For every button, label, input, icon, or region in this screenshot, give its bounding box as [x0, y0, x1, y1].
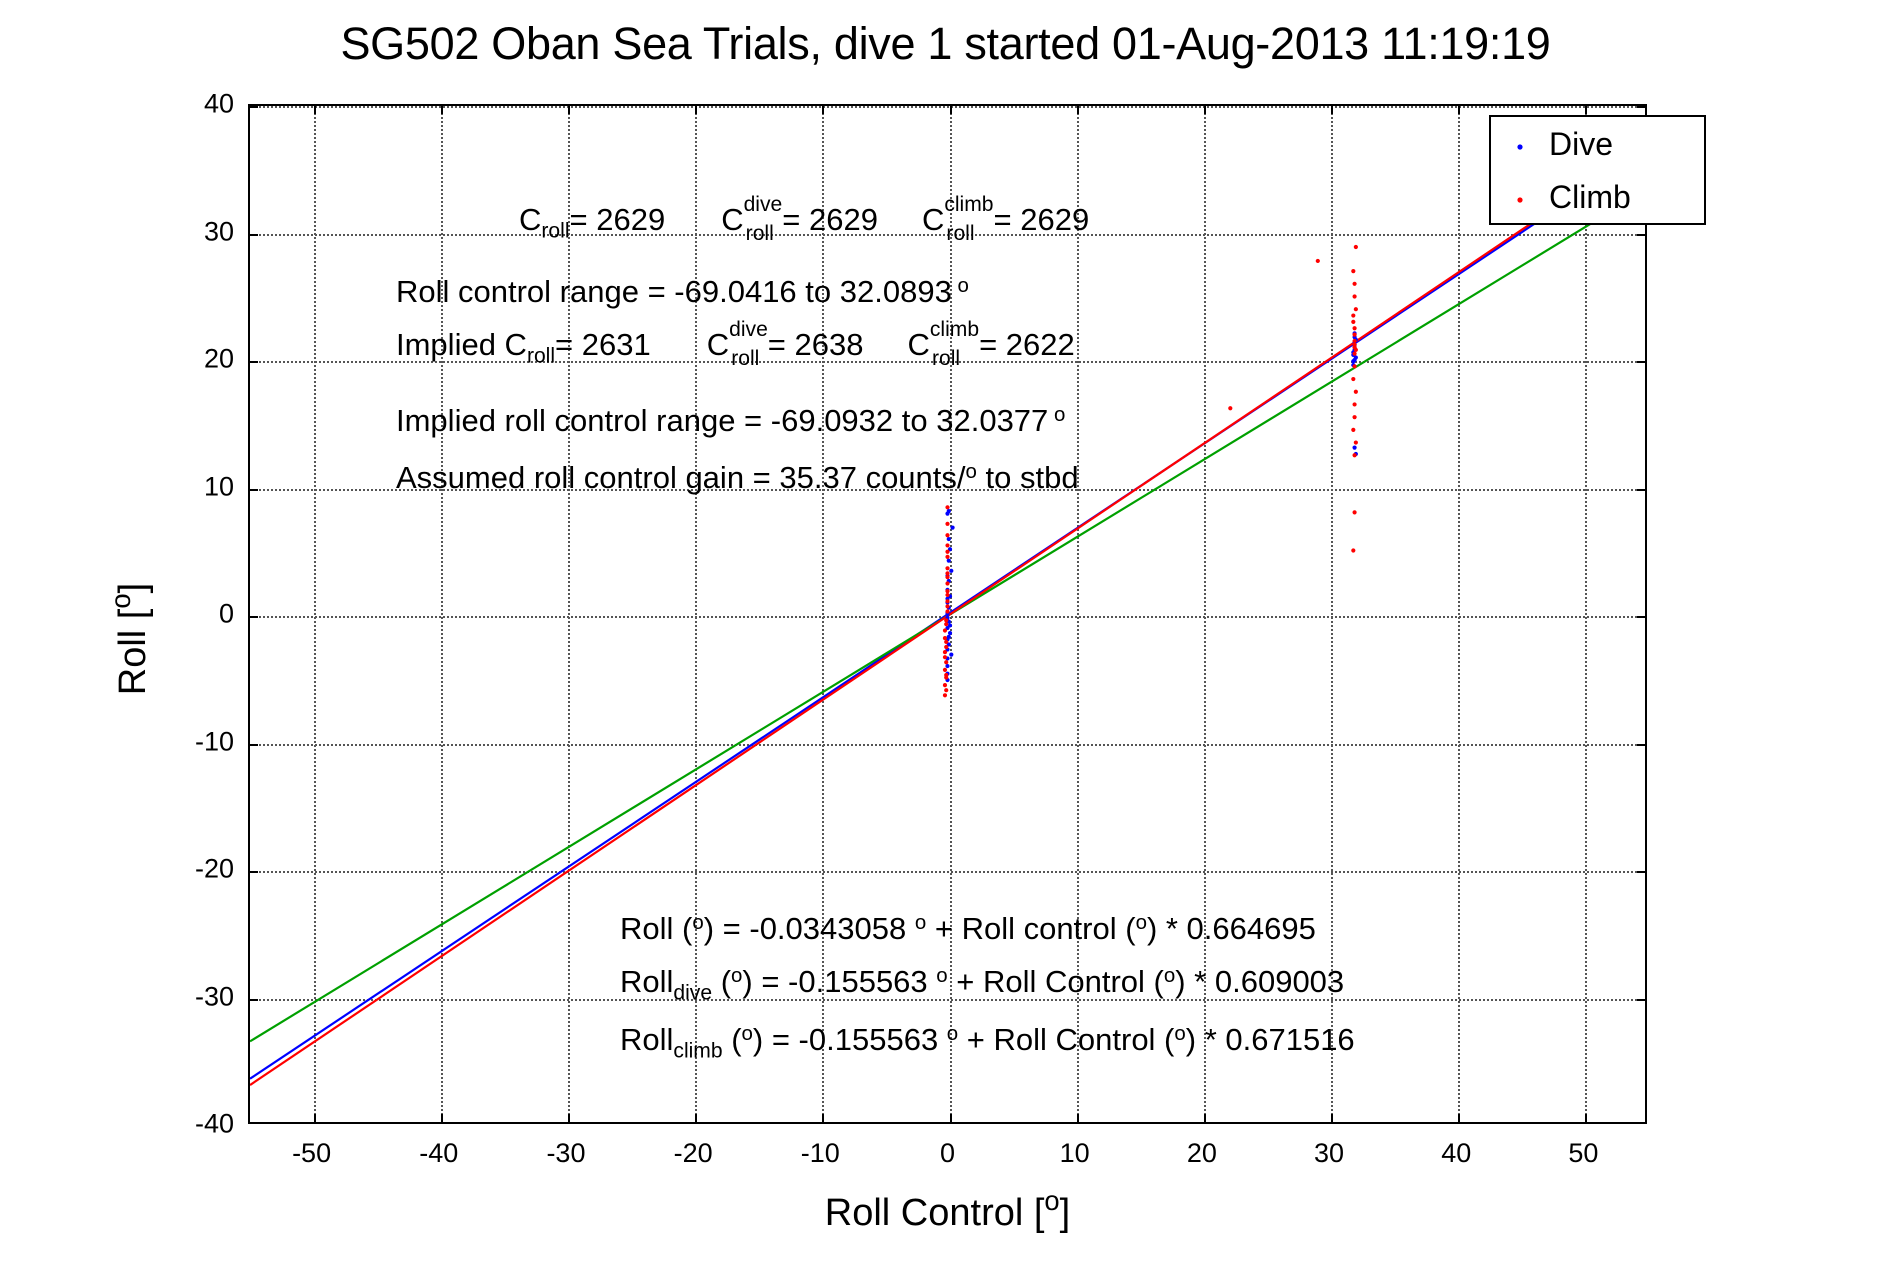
data-point: [1352, 415, 1356, 419]
y-axis-tick: [248, 999, 258, 1001]
x-axis-tick: [568, 104, 570, 114]
eq3-part-b: (: [723, 1022, 742, 1057]
x-axis-tick: [1204, 104, 1206, 114]
x-axis-tick: [568, 1114, 570, 1124]
degree-icon: o: [1174, 1022, 1185, 1045]
data-point: [944, 660, 948, 664]
croll-climb-superscript: climb: [944, 195, 993, 215]
data-point: [947, 635, 951, 639]
eq1-part-d: ) * 0.664695: [1147, 911, 1316, 946]
data-point: [1351, 548, 1355, 552]
data-point: [1351, 359, 1355, 363]
data-point: [947, 537, 951, 541]
y-axis-tick: [1637, 361, 1647, 363]
degree-icon: o: [731, 964, 742, 987]
x-axis-tick: [441, 104, 443, 114]
y-tick-label: 20: [140, 344, 234, 375]
legend-item-climb[interactable]: Climb: [1491, 170, 1704, 225]
data-point: [945, 664, 949, 668]
data-point: [945, 555, 949, 559]
data-point: [1352, 453, 1356, 457]
implied-roll-control-range-text: Implied roll control range = -69.0932 to…: [396, 403, 1048, 438]
y-axis-label-text: Roll [: [112, 609, 154, 696]
croll-value: = 2629: [570, 202, 666, 237]
legend[interactable]: Dive Climb: [1489, 115, 1706, 225]
data-point: [945, 543, 949, 547]
y-axis-tick: [248, 361, 258, 363]
y-axis-tick: [1637, 106, 1647, 108]
eq3-part-a: Roll: [620, 1022, 673, 1057]
degree-icon: o: [966, 460, 977, 483]
equation-roll-all: Roll (o) = -0.0343058 o + Roll control (…: [620, 913, 1316, 944]
x-axis-tick: [822, 104, 824, 114]
degree-icon: o: [1136, 911, 1147, 934]
y-tick-label: 30: [140, 216, 234, 247]
eq2-part-a: Roll: [620, 964, 673, 999]
y-axis-tick: [248, 234, 258, 236]
data-point: [1352, 294, 1356, 298]
data-point: [945, 505, 949, 509]
degree-icon: o: [692, 911, 703, 934]
legend-label-climb: Climb: [1549, 179, 1631, 216]
data-point: [943, 636, 947, 640]
data-point: [945, 593, 949, 597]
croll-dive-value: = 2629: [782, 202, 878, 237]
data-point: [950, 526, 954, 530]
degree-icon: o: [952, 274, 969, 297]
eq1-part-a: Roll (: [620, 911, 692, 946]
x-axis-tick: [1077, 1114, 1079, 1124]
data-point: [947, 509, 951, 513]
x-axis-label-text: Roll Control [: [825, 1192, 1045, 1234]
data-point: [1351, 320, 1355, 324]
x-tick-label: 30: [1314, 1138, 1344, 1169]
eq2-part-e: ) * 0.609003: [1175, 964, 1344, 999]
data-point: [1354, 390, 1358, 394]
equation-roll-dive: Rolldive (o) = -0.155563 o + Roll Contro…: [620, 966, 1344, 1004]
data-point: [1352, 339, 1356, 343]
data-point: [945, 575, 949, 579]
annotation-implied-roll-control-range: Implied roll control range = -69.0932 to…: [396, 405, 1065, 436]
croll-dive-subscript: roll: [746, 224, 785, 244]
degree-icon: o: [105, 593, 136, 608]
data-point: [944, 618, 948, 622]
implied-croll-dive-superscript: dive: [729, 320, 768, 340]
x-axis-tick: [1458, 104, 1460, 114]
data-point: [1354, 355, 1358, 359]
data-point: [1354, 307, 1358, 311]
implied-croll-climb-symbol: C: [907, 327, 929, 362]
annotation-roll-control-range: Roll control range = -69.0416 to 32.0893…: [396, 276, 969, 307]
data-point: [1354, 348, 1358, 352]
data-point: [949, 653, 953, 657]
data-point: [947, 559, 951, 563]
data-point: [1352, 352, 1356, 356]
y-tick-label: 40: [140, 89, 234, 120]
data-point: [944, 645, 948, 649]
climb-marker-icon: [1491, 183, 1549, 213]
implied-croll-climb-script: climbroll: [930, 326, 979, 366]
eq2-part-d: + Roll Control (: [948, 964, 1164, 999]
eq1-part-c: + Roll control (: [926, 911, 1135, 946]
x-axis-tick: [822, 1114, 824, 1124]
data-point: [948, 623, 952, 627]
eq1-part-b: ) = -0.0343058: [704, 911, 915, 946]
degree-icon: o: [947, 1022, 958, 1045]
eq2-part-b: (: [712, 964, 731, 999]
implied-croll-dive-value: = 2638: [768, 327, 864, 362]
data-point: [943, 655, 947, 659]
x-tick-label: 20: [1187, 1138, 1217, 1169]
eq2-subscript: dive: [673, 982, 712, 1005]
data-point: [948, 631, 952, 635]
eq3-subscript: climb: [673, 1040, 722, 1063]
x-tick-label: -30: [546, 1138, 585, 1169]
y-axis-tick: [248, 871, 258, 873]
y-axis-tick: [248, 489, 258, 491]
x-axis-tick: [695, 1114, 697, 1124]
assumed-gain-suffix: to stbd: [977, 460, 1079, 495]
croll-dive-superscript: dive: [744, 195, 783, 215]
x-axis-tick: [441, 1114, 443, 1124]
legend-label-dive: Dive: [1549, 126, 1613, 163]
annotation-implied-croll-line: Implied Croll= 2631Cdiveroll= 2638Cclimb…: [396, 327, 1075, 367]
implied-croll-dive-symbol: C: [707, 327, 729, 362]
data-point: [945, 533, 949, 537]
x-axis-tick: [695, 104, 697, 114]
croll-climb-value: = 2629: [994, 202, 1090, 237]
data-point: [1316, 259, 1320, 263]
data-point: [1228, 406, 1232, 410]
implied-croll-subscript: roll: [527, 345, 555, 368]
implied-croll-dive-subscript: roll: [731, 349, 770, 369]
implied-croll-climb-value: = 2622: [979, 327, 1075, 362]
croll-dive-symbol: C: [721, 202, 743, 237]
degree-icon: o: [742, 1022, 753, 1045]
data-point: [1354, 440, 1358, 444]
data-point: [1351, 269, 1355, 273]
x-axis-tick: [1331, 104, 1333, 114]
x-tick-label: -40: [419, 1138, 458, 1169]
annotation-croll-line: Croll= 2629Cdiveroll= 2629Cclimbroll= 26…: [519, 202, 1089, 242]
croll-climb-symbol: C: [922, 202, 944, 237]
croll-climb-subscript: roll: [946, 224, 995, 244]
data-point: [1352, 364, 1356, 368]
data-point: [1351, 377, 1355, 381]
data-point: [943, 650, 947, 654]
y-axis-tick: [1637, 871, 1647, 873]
data-point: [944, 622, 948, 626]
roll-control-range-text: Roll control range = -69.0416 to 32.0893: [396, 274, 952, 309]
x-tick-label: -50: [292, 1138, 331, 1169]
data-point: [945, 599, 949, 603]
y-tick-label: -20: [140, 854, 234, 885]
annotation-assumed-gain: Assumed roll control gain = 35.37 counts…: [396, 462, 1079, 493]
y-axis-tick: [1637, 234, 1647, 236]
data-point: [945, 604, 949, 608]
croll-symbol: C: [519, 202, 541, 237]
y-axis-label: Roll [o]: [105, 439, 155, 839]
y-axis-tick: [248, 106, 258, 108]
x-tick-label: 50: [1568, 1138, 1598, 1169]
scatter-series-dive: [945, 331, 1358, 682]
eq3-part-e: ) * 0.671516: [1186, 1022, 1355, 1057]
data-point: [945, 566, 949, 570]
data-point: [945, 571, 949, 575]
x-axis-label: Roll Control [o]: [248, 1185, 1647, 1235]
y-tick-label: -40: [140, 1109, 234, 1140]
data-point: [943, 693, 947, 697]
x-axis-tick: [1585, 104, 1587, 114]
implied-croll-climb-superscript: climb: [930, 320, 979, 340]
x-tick-label: -10: [801, 1138, 840, 1169]
x-axis-tick: [314, 104, 316, 114]
assumed-gain-text: Assumed roll control gain = 35.37 counts…: [396, 460, 966, 495]
data-point: [945, 522, 949, 526]
data-point: [945, 609, 949, 613]
data-point: [1354, 245, 1358, 249]
eq3-part-d: + Roll Control (: [958, 1022, 1174, 1057]
implied-croll-value: = 2631: [555, 327, 651, 362]
data-point: [945, 550, 949, 554]
data-point: [1352, 510, 1356, 514]
x-tick-label: 10: [1060, 1138, 1090, 1169]
data-point: [949, 569, 953, 573]
y-tick-label: -30: [140, 981, 234, 1012]
y-axis-tick: [248, 616, 258, 618]
data-point: [944, 688, 948, 692]
data-point: [943, 668, 947, 672]
x-axis-tick: [1585, 1114, 1587, 1124]
degree-icon: o: [1048, 403, 1065, 426]
legend-item-dive[interactable]: Dive: [1491, 117, 1704, 172]
data-point: [1351, 428, 1355, 432]
x-axis-tick: [950, 104, 952, 114]
x-axis-label-close: ]: [1060, 1192, 1071, 1234]
croll-subscript: roll: [541, 220, 569, 243]
x-axis-tick: [314, 1114, 316, 1124]
x-axis-tick: [950, 1114, 952, 1124]
x-tick-label: -20: [674, 1138, 713, 1169]
implied-croll-climb-subscript: roll: [932, 349, 981, 369]
equation-roll-climb: Rollclimb (o) = -0.155563 o + Roll Contr…: [620, 1024, 1355, 1062]
dive-marker-icon: [1491, 130, 1549, 160]
chart-page: SG502 Oban Sea Trials, dive 1 started 01…: [0, 0, 1891, 1262]
y-axis-label-close: ]: [112, 583, 154, 594]
x-tick-label: 0: [940, 1138, 955, 1169]
page-title: SG502 Oban Sea Trials, dive 1 started 01…: [0, 18, 1891, 70]
data-point: [1351, 313, 1355, 317]
x-axis-tick: [1458, 1114, 1460, 1124]
x-axis-tick: [1077, 104, 1079, 114]
data-point: [1352, 343, 1356, 347]
y-axis-tick: [1637, 999, 1647, 1001]
y-axis-tick: [1637, 616, 1647, 618]
implied-croll-prefix: Implied C: [396, 327, 527, 362]
data-point: [944, 640, 948, 644]
data-point: [943, 683, 947, 687]
y-axis-tick: [1637, 744, 1647, 746]
eq2-part-c: ) = -0.155563: [742, 964, 936, 999]
x-axis-tick: [1204, 1114, 1206, 1124]
degree-icon: o: [936, 964, 947, 987]
croll-dive-script: diveroll: [744, 201, 783, 241]
eq3-part-c: ) = -0.155563: [753, 1022, 947, 1057]
data-point: [1352, 402, 1356, 406]
data-point: [945, 589, 949, 593]
x-axis-tick: [1331, 1114, 1333, 1124]
y-axis-tick: [248, 744, 258, 746]
degree-icon: o: [1164, 964, 1175, 987]
degree-icon: o: [1044, 1185, 1059, 1216]
x-tick-label: 40: [1441, 1138, 1471, 1169]
data-point: [1352, 333, 1356, 337]
data-point: [943, 628, 947, 632]
data-point: [1352, 446, 1356, 450]
y-axis-tick: [1637, 489, 1647, 491]
croll-climb-script: climbroll: [944, 201, 993, 241]
degree-icon: o: [915, 911, 926, 934]
data-point: [1352, 326, 1356, 330]
data-point: [944, 673, 948, 677]
data-point: [945, 581, 949, 585]
implied-croll-dive-script: diveroll: [729, 326, 768, 366]
data-point: [1352, 282, 1356, 286]
